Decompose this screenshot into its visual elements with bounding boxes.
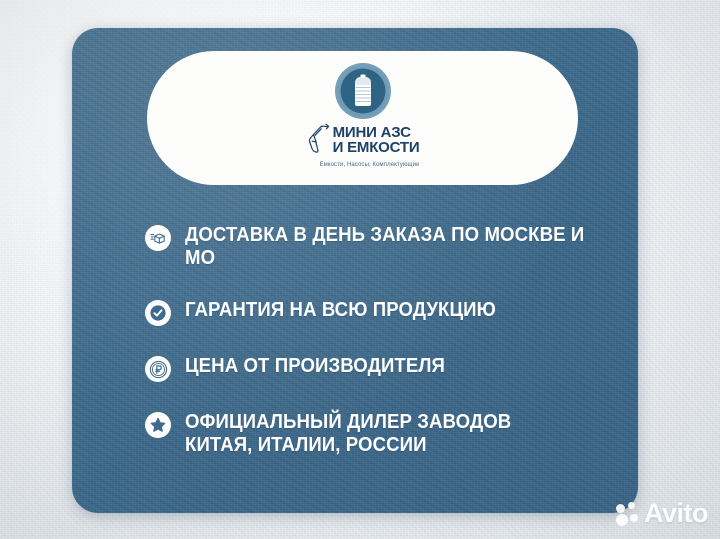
feature-label: ДОСТАВКА В ДЕНЬ ЗАКАЗА ПО МОСКВЕ И МО (185, 224, 585, 270)
feature-label: ОФИЦИАЛЬНЫЙ ДИЛЕР ЗАВОДОВ КИТАЯ, ИТАЛИИ,… (185, 411, 511, 457)
feature-item: ОФИЦИАЛЬНЫЙ ДИЛЕР ЗАВОДОВ КИТАЯ, ИТАЛИИ,… (145, 411, 615, 457)
wordmark-line-2: И ЕМКОСТИ (333, 139, 420, 156)
feature-label-line-1: ЦЕНА ОТ ПРОИЗВОДИТЕЛЯ (185, 355, 445, 377)
logo-tagline: Емкости, Насосы, Комплектующие (320, 162, 420, 168)
feature-item: ЦЕНА ОТ ПРОИЗВОДИТЕЛЯ (145, 355, 615, 382)
ruble-coin-icon (145, 356, 171, 382)
star-circle-icon (145, 412, 171, 438)
feature-label: ГАРАНТИЯ НА ВСЮ ПРОДУКЦИЮ (185, 299, 496, 322)
company-logo: МИНИ АЗС И ЕМКОСТИ Емкости, Насосы, Комп… (268, 59, 458, 177)
avito-wordmark: Avito (644, 500, 708, 527)
promo-card: МИНИ АЗС И ЕМКОСТИ Емкости, Насосы, Комп… (72, 28, 638, 513)
avito-watermark: Avito (616, 500, 708, 527)
feature-label-line-1: ГАРАНТИЯ НА ВСЮ ПРОДУКЦИЮ (185, 299, 496, 321)
banner-page: МИНИ АЗС И ЕМКОСТИ Емкости, Насосы, Комп… (0, 0, 720, 539)
feature-label-line-2: КИТАЯ, ИТАЛИИ, РОССИИ (185, 434, 511, 457)
fuel-tank-icon (335, 63, 391, 119)
fuel-nozzle-icon (306, 122, 330, 159)
feature-item: ДОСТАВКА В ДЕНЬ ЗАКАЗА ПО МОСКВЕ И МО (145, 224, 615, 270)
feature-label: ЦЕНА ОТ ПРОИЗВОДИТЕЛЯ (185, 355, 445, 378)
avito-dots-icon (616, 502, 640, 526)
feature-label-line-1: ДОСТАВКА В ДЕНЬ ЗАКАЗА ПО МОСКВЕ И МО (185, 224, 584, 269)
check-circle-icon (145, 300, 171, 326)
delivery-box-icon (145, 225, 171, 251)
wordmark-row: МИНИ АЗС И ЕМКОСТИ (306, 121, 420, 159)
wordmark-text: МИНИ АЗС И ЕМКОСТИ (333, 125, 420, 155)
feature-label-line-1: ОФИЦИАЛЬНЫЙ ДИЛЕР ЗАВОДОВ (185, 411, 511, 433)
feature-item: ГАРАНТИЯ НА ВСЮ ПРОДУКЦИЮ (145, 299, 615, 326)
logo-panel: МИНИ АЗС И ЕМКОСТИ Емкости, Насосы, Комп… (147, 51, 578, 185)
feature-list: ДОСТАВКА В ДЕНЬ ЗАКАЗА ПО МОСКВЕ И МО ГА… (145, 224, 615, 457)
